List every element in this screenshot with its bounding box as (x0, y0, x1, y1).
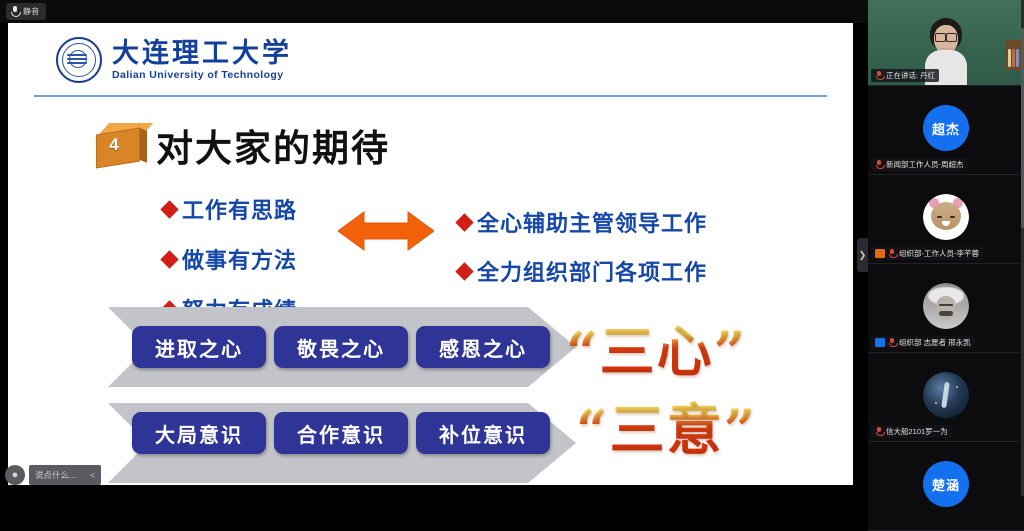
mic-status-pill[interactable]: 静音 (6, 3, 46, 20)
participant-name: 组织部-工作人员-李芊蓉 (899, 248, 979, 259)
header-divider (34, 95, 827, 97)
concept-box-label: 进取之心 (155, 333, 243, 362)
participant-name-bar: 组织部 志愿者 邢永凯 (871, 336, 975, 349)
diamond-bullet-icon (160, 250, 178, 268)
concept-box-label: 大局意识 (155, 419, 243, 448)
highlight-text-sanxin: “三心” (566, 307, 747, 387)
highlight-text-sanyi: “三意” (576, 385, 757, 465)
chat-placeholder: 说点什么... (35, 469, 76, 481)
double-arrow-icon (338, 209, 434, 253)
participant-name-bar: 信大船2101罗一为 (871, 425, 952, 438)
bullet-label: 全力组织部门各项工作 (477, 255, 707, 287)
avatar (923, 283, 969, 329)
chat-input-bar[interactable]: ● 说点什么... < (5, 464, 101, 486)
diamond-bullet-icon (160, 200, 178, 218)
avatar (923, 372, 969, 418)
concept-box: 合作意识 (274, 412, 408, 454)
chat-input[interactable]: 说点什么... < (29, 465, 101, 485)
right-bullet-list: 全心辅助主管领导工作 全力组织部门各项工作 (458, 206, 707, 287)
microphone-icon (888, 338, 896, 347)
university-logo-block: 大连理工大学 Dalian University of Technology (56, 37, 292, 83)
bullet-label: 工作有思路 (182, 193, 297, 225)
list-item: 全心辅助主管领导工作 (458, 206, 707, 238)
avatar: ● (5, 465, 25, 485)
stage-top-bar: 静音 (0, 0, 868, 23)
concept-box-label: 合作意识 (297, 419, 385, 448)
chat-send-icon[interactable]: < (90, 471, 95, 480)
university-name-en: Dalian University of Technology (112, 70, 292, 81)
bullet-label: 全心辅助主管领导工作 (477, 206, 707, 238)
avatar-initials: 超杰 (932, 119, 960, 138)
participant-name: 新闻部工作人员-周超杰 (886, 159, 964, 170)
concept-box: 敬畏之心 (274, 326, 408, 368)
shared-screen-stage: 静音 大连理工大学 Dalian University of Technolog… (0, 0, 868, 496)
section-number-cube-icon: 4 (92, 121, 148, 169)
concept-box: 补位意识 (416, 412, 550, 454)
participant-name-bar: 正在讲话: 丹红 (871, 69, 939, 82)
avatar (923, 194, 969, 240)
microphone-icon (888, 249, 896, 258)
meeting-window: 静音 大连理工大学 Dalian University of Technolog… (0, 0, 1024, 496)
space-avatar-icon (923, 372, 969, 418)
avatar: 楚涵 (923, 461, 969, 507)
portrait-avatar-icon (923, 283, 969, 329)
concept-box-label: 补位意识 (439, 419, 527, 448)
avatar: 超杰 (923, 105, 969, 151)
microphone-icon (875, 160, 883, 169)
concept-box: 大局意识 (132, 412, 266, 454)
cat-avatar-icon (923, 194, 969, 240)
list-item: 做事有方法 (163, 243, 297, 275)
list-item: 全力组织部门各项工作 (458, 255, 707, 287)
participant-tile[interactable]: 组织部-工作人员-李芊蓉 (868, 175, 1024, 264)
bullet-label: 做事有方法 (182, 243, 297, 275)
slide-title-row: 4 对大家的期待 (92, 118, 390, 172)
concept-box: 感恩之心 (416, 326, 550, 368)
participant-tile[interactable]: 组织部 志愿者 邢永凯 (868, 264, 1024, 353)
avatar-initials: 楚涵 (932, 475, 960, 494)
participant-tile[interactable]: 超杰 新闻部工作人员-周超杰 (868, 86, 1024, 175)
collapse-panel-handle[interactable]: ❯ (857, 238, 868, 272)
participant-tile[interactable]: 正在讲话: 丹红 (868, 0, 1024, 86)
participant-name-bar: 新闻部工作人员-周超杰 (871, 158, 968, 171)
microphone-icon (10, 6, 19, 18)
participant-name: 正在讲话: 丹红 (886, 70, 935, 81)
university-seal-icon (56, 37, 102, 83)
participant-tile[interactable]: 信大船2101罗一为 (868, 353, 1024, 442)
concept-box-label: 感恩之心 (439, 333, 527, 362)
participant-tile[interactable]: 楚涵 (868, 442, 1024, 531)
concept-box-label: 敬畏之心 (297, 333, 385, 362)
participant-name-bar: 组织部-工作人员-李芊蓉 (871, 247, 983, 260)
participant-name: 信大船2101罗一为 (886, 426, 948, 437)
mic-status-label: 静音 (23, 6, 39, 17)
diamond-bullet-icon (455, 262, 473, 280)
university-name-cn: 大连理工大学 (112, 40, 292, 67)
participant-name: 组织部 志愿者 邢永凯 (899, 337, 971, 348)
section-number: 4 (92, 121, 136, 169)
host-badge-icon (875, 249, 885, 258)
concept-box: 进取之心 (132, 326, 266, 368)
presentation-slide: 大连理工大学 Dalian University of Technology 4… (8, 23, 853, 485)
page-title: 对大家的期待 (156, 118, 390, 172)
microphone-icon (875, 427, 883, 436)
list-item: 工作有思路 (163, 193, 297, 225)
diamond-bullet-icon (455, 213, 473, 231)
microphone-icon (875, 71, 883, 80)
participant-rail[interactable]: 正在讲话: 丹红 超杰 新闻部工作人员-周超杰 组织部-工作人 (868, 0, 1024, 496)
participant-badge-icon (875, 338, 885, 347)
